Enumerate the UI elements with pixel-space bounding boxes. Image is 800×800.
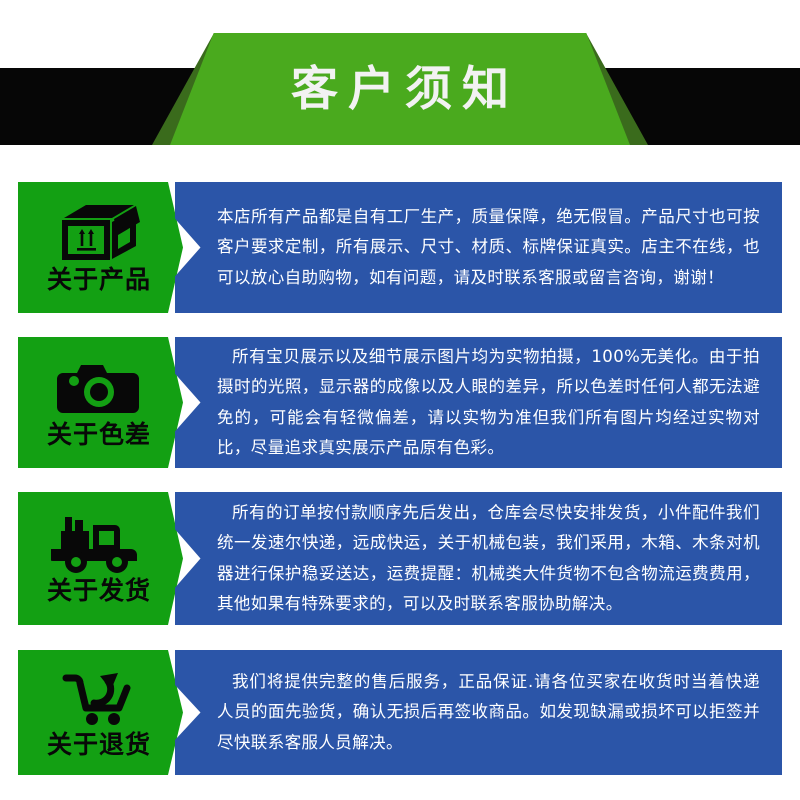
notice-row-color: 关于色差 所有宝贝展示以及细节展示图片均为实物拍摄，100%无美化。由于拍摄时的… <box>0 337 800 468</box>
icon-label-product: 关于产品 <box>24 267 174 293</box>
notice-text-product: 本店所有产品都是自有工厂生产，质量保障，绝无假冒。产品尺寸也可按客户要求定制，所… <box>175 202 782 292</box>
icon-box-color[interactable]: 关于色差 <box>18 337 183 468</box>
icon-label-color: 关于色差 <box>24 422 174 448</box>
notice-row-product: 关于产品 本店所有产品都是自有工厂生产，质量保障，绝无假冒。产品尺寸也可按客户要… <box>0 182 800 313</box>
notice-text-return: 我们将提供完整的售后服务，正品保证.请各位买家在收货时当着快递人员的面先验货，确… <box>175 667 782 757</box>
notice-row-shipping: 关于发货 所有的订单按付款顺序先后发出，仓库会尽快安排发货，小件配件我们统一发速… <box>0 492 800 625</box>
text-box-shipping: 所有的订单按付款顺序先后发出，仓库会尽快安排发货，小件配件我们统一发速尔快递，远… <box>175 492 782 625</box>
package-box-icon <box>24 202 174 264</box>
return-cart-icon <box>24 667 174 729</box>
icon-box-shipping[interactable]: 关于发货 <box>18 492 183 625</box>
icon-box-return[interactable]: 关于退货 <box>18 650 183 775</box>
text-box-color: 所有宝贝展示以及细节展示图片均为实物拍摄，100%无美化。由于拍摄时的光照，显示… <box>175 337 782 468</box>
notice-text-color: 所有宝贝展示以及细节展示图片均为实物拍摄，100%无美化。由于拍摄时的光照，显示… <box>175 342 782 462</box>
banner-ribbon: 客户须知 <box>170 33 630 145</box>
text-box-product: 本店所有产品都是自有工厂生产，质量保障，绝无假冒。产品尺寸也可按客户要求定制，所… <box>175 182 782 313</box>
page-title: 客户须知 <box>281 66 519 113</box>
text-box-return: 我们将提供完整的售后服务，正品保证.请各位买家在收货时当着快递人员的面先验货，确… <box>175 650 782 775</box>
customer-notice-page: 客户须知 <box>0 0 800 800</box>
icon-box-product[interactable]: 关于产品 <box>18 182 183 313</box>
notice-row-return: 关于退货 我们将提供完整的售后服务，正品保证.请各位买家在收货时当着快递人员的面… <box>0 650 800 775</box>
camera-icon <box>24 357 174 419</box>
page-header: 客户须知 <box>0 0 800 155</box>
truck-icon <box>24 513 174 575</box>
icon-label-return: 关于退货 <box>24 732 174 758</box>
notice-text-shipping: 所有的订单按付款顺序先后发出，仓库会尽快安排发货，小件配件我们统一发速尔快递，远… <box>175 498 782 618</box>
icon-label-shipping: 关于发货 <box>24 578 174 604</box>
